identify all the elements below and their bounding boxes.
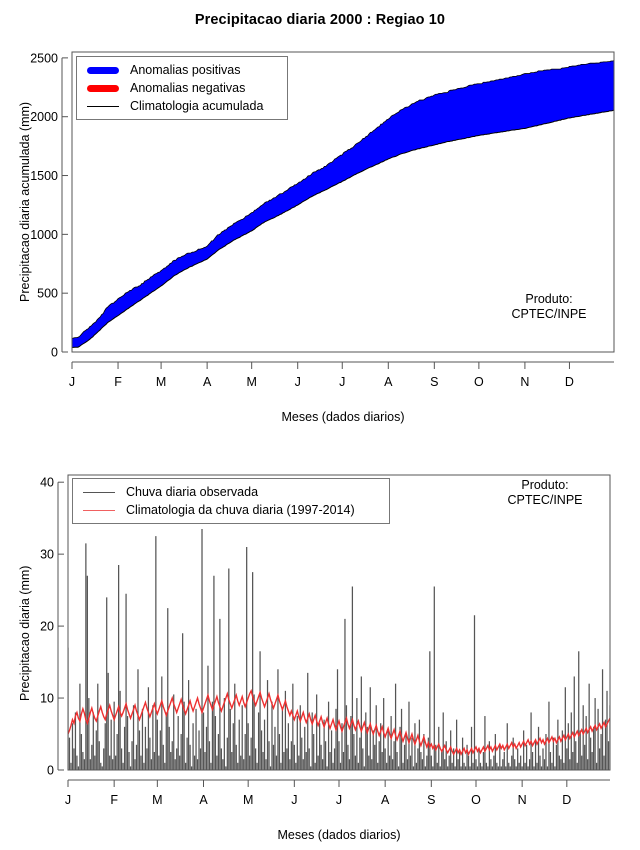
x-tick-label-bottom: A [381,793,390,807]
y-tick-label-top: 0 [51,346,58,360]
y-axis-label-top: Precipitacao diaria acumulada (mm) [18,102,32,302]
legend-label-climatologia-chuva-diaria: Climatologia da chuva diaria (1997-2014) [126,503,355,517]
x-tick-label-top: F [114,375,122,389]
x-axis-label-bottom: Meses (dados diarios) [68,828,610,842]
y-tick-label-bottom: 10 [40,692,54,706]
legend-label-anomalias-positivas: Anomalias positivas [130,63,240,77]
x-tick-label-bottom: S [427,793,435,807]
legend-item-anomalias-positivas: Anomalias positivas [77,61,287,79]
x-tick-label-top: S [430,375,438,389]
x-tick-label-top: A [203,375,212,389]
y-tick-label-top: 500 [37,287,58,301]
x-tick-label-bottom: A [199,793,208,807]
legend-bottom: Chuva diaria observada Climatologia da c… [72,478,390,524]
legend-item-chuva-diaria-observada: Chuva diaria observada [73,483,389,501]
x-tick-label-bottom: J [291,793,297,807]
legend-label-anomalias-negativas: Anomalias negativas [130,81,245,95]
x-tick-label-top: D [565,375,574,389]
y-tick-label-bottom: 20 [40,620,54,634]
legend-label-climatologia-acumulada: Climatologia acumulada [130,99,263,113]
y-tick-label-bottom: 40 [40,476,54,490]
daily-bars-group [68,529,610,770]
x-tick-label-top: J [69,375,75,389]
produto-annotation-top: Produto: CPTEC/INPE [494,292,604,322]
x-tick-label-bottom: F [110,793,118,807]
daily-precipitation-panel: 010203040JFMAMJJASOND Precipitacao diari… [0,450,640,850]
y-tick-label-top: 2500 [30,51,58,65]
legend-swatch-black-line-icon [85,106,121,107]
x-tick-label-bottom: N [518,793,527,807]
x-tick-label-top: N [520,375,529,389]
legend-swatch-blue-icon [85,67,121,74]
x-tick-label-bottom: M [152,793,162,807]
legend-swatch-red-line-icon [81,510,117,511]
produto-annotation-bottom: Produto: CPTEC/INPE [490,478,600,508]
x-tick-label-bottom: M [243,793,253,807]
y-tick-label-bottom: 0 [47,764,54,778]
y-axis-label-bottom: Precipitacao diaria (mm) [18,565,32,700]
page-title: Precipitacao diaria 2000 : Regiao 10 [0,12,640,28]
legend-item-climatologia-chuva-diaria: Climatologia da chuva diaria (1997-2014) [73,501,389,519]
produto-line2: CPTEC/INPE [490,493,600,508]
x-tick-label-bottom: O [471,793,481,807]
y-tick-label-top: 1000 [30,228,58,242]
produto-line2: CPTEC/INPE [494,307,604,322]
x-tick-label-top: J [295,375,301,389]
x-tick-label-bottom: J [336,793,342,807]
legend-label-chuva-diaria-observada: Chuva diaria observada [126,485,258,499]
legend-item-anomalias-negativas: Anomalias negativas [77,79,287,97]
y-tick-label-top: 2000 [30,110,58,124]
produto-line1: Produto: [490,478,600,493]
x-tick-label-top: J [339,375,345,389]
legend-swatch-gray-line-icon [81,492,117,493]
legend-top: Anomalias positivas Anomalias negativas … [76,56,288,120]
x-tick-label-top: M [156,375,166,389]
x-tick-label-top: O [474,375,484,389]
accumulated-precipitation-panel: 05001000150020002500JFMAMJJASOND Precipi… [0,30,640,450]
x-tick-label-bottom: J [65,793,71,807]
produto-line1: Produto: [494,292,604,307]
x-tick-label-top: M [246,375,256,389]
x-tick-label-top: A [384,375,393,389]
legend-item-climatologia-acumulada: Climatologia acumulada [77,97,287,115]
y-tick-label-bottom: 30 [40,548,54,562]
y-tick-label-top: 1500 [30,169,58,183]
x-axis-label-top: Meses (dados diarios) [72,410,614,424]
chart-page: Precipitacao diaria 2000 : Regiao 10 050… [0,0,640,850]
x-tick-label-bottom: D [562,793,571,807]
legend-swatch-red-icon [85,85,121,92]
